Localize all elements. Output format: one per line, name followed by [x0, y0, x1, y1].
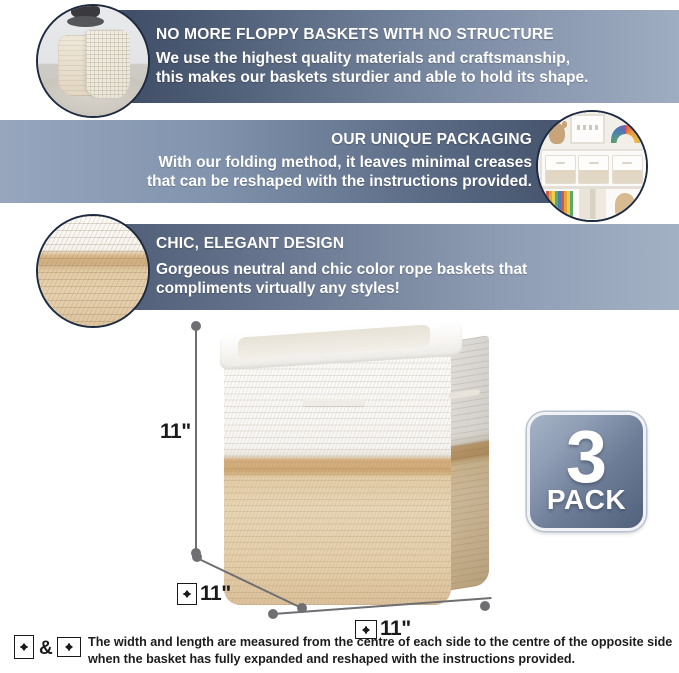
- feature-2-body-line2: that can be reshaped with the instructio…: [147, 173, 532, 192]
- basket-with-towel-photo: [36, 4, 150, 118]
- feature-1-title: NO MORE FLOPPY BASKETS WITH NO STRUCTURE: [156, 26, 679, 43]
- cotton-rope-storage-basket: [198, 318, 508, 608]
- basket-handle-front: [303, 399, 365, 405]
- feature-1-body-line2: this makes our baskets sturdier and able…: [156, 69, 679, 88]
- shelf-with-bins-photo: [536, 110, 648, 222]
- feature-2-banner: OUR UNIQUE PACKAGING With our folding me…: [0, 120, 590, 203]
- feature-3-body: Gorgeous neutral and chic color rope bas…: [156, 261, 679, 299]
- measurement-note: & The width and length are measured from…: [0, 627, 679, 673]
- footer-note-line2: when the basket has fully expanded and r…: [88, 651, 672, 668]
- feature-1-body-line1: We use the highest quality materials and…: [156, 50, 679, 69]
- rope-texture-photo: [36, 214, 150, 328]
- feature-3-body-line2: compliments virtually any styles!: [156, 280, 679, 299]
- footer-height-icon-box: [14, 635, 34, 659]
- feature-2-body-line1: With our folding method, it leaves minim…: [147, 154, 532, 173]
- feature-3-body-line1: Gorgeous neutral and chic color rope bas…: [156, 261, 679, 280]
- three-pack-badge: 3 PACK: [527, 412, 646, 531]
- footer-width-icon-box: [57, 637, 81, 657]
- feature-1-banner: NO MORE FLOPPY BASKETS WITH NO STRUCTURE…: [98, 10, 679, 103]
- feature-unique-packaging: OUR UNIQUE PACKAGING With our folding me…: [0, 112, 679, 212]
- feature-3-title: CHIC, ELEGANT DESIGN: [156, 235, 679, 252]
- depth-icon-box: [177, 583, 197, 605]
- dim-dot-depth-top: [192, 552, 202, 562]
- dim-dot-height-top: [191, 321, 201, 331]
- dim-dot-width-left: [268, 609, 278, 619]
- footer-note-line1: The width and length are measured from t…: [88, 634, 672, 651]
- dim-dot-width-right: [480, 601, 490, 611]
- footer-ampersand: &: [39, 638, 53, 660]
- dimension-height-label: 11": [160, 420, 191, 444]
- dimension-depth-label: 11": [200, 582, 231, 606]
- feature-no-floppy-baskets: NO MORE FLOPPY BASKETS WITH NO STRUCTURE…: [0, 0, 679, 112]
- product-infographic: NO MORE FLOPPY BASKETS WITH NO STRUCTURE…: [0, 0, 679, 673]
- basket-front-panel: [224, 350, 450, 605]
- feature-1-body: We use the highest quality materials and…: [156, 50, 679, 88]
- feature-2-title: OUR UNIQUE PACKAGING: [331, 131, 532, 148]
- badge-count: 3: [566, 427, 607, 488]
- feature-3-banner: CHIC, ELEGANT DESIGN Gorgeous neutral an…: [98, 224, 679, 310]
- feature-chic-elegant-design: CHIC, ELEGANT DESIGN Gorgeous neutral an…: [0, 212, 679, 316]
- badge-label: PACK: [547, 486, 626, 514]
- feature-2-body: With our folding method, it leaves minim…: [147, 154, 532, 192]
- footer-note-text: The width and length are measured from t…: [88, 634, 672, 667]
